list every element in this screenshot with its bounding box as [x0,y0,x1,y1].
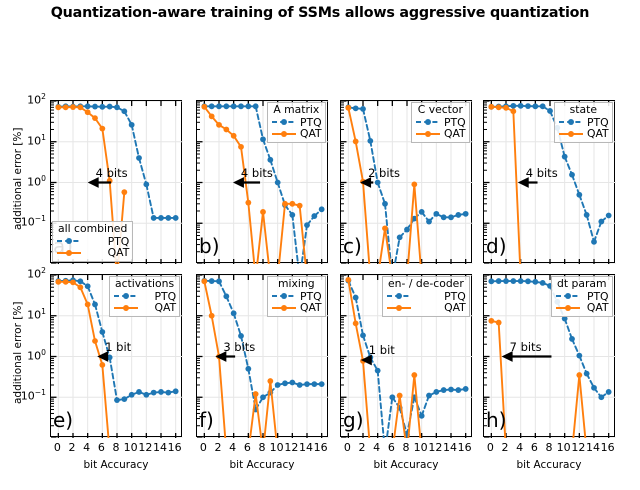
y-tick-label: 102 [2,266,46,281]
legend-swatch-ptq [386,291,412,301]
panel-label-h: h) [486,408,506,432]
legend-swatch-ptq [271,117,297,127]
y-tick-label: 100 [2,348,46,363]
x-axis-label: bit Accuracy [483,459,615,471]
legend-label: QAT [415,302,466,314]
legend-entry-qat: QAT [415,128,466,140]
y-tick-label: 10−1 [2,388,46,403]
legend-entry-qat: QAT [558,128,609,140]
x-tick-label: 16 [453,441,477,454]
legend-swatch-qat [113,303,139,313]
legend-c: C vectorPTQQAT [411,102,470,143]
panel-label-c: c) [343,234,362,258]
legend-entry-qat: QAT [386,302,466,314]
x-tick-label: 16 [163,441,187,454]
legend-title: mixing [271,278,322,291]
legend-title: dt param [555,278,609,291]
y-axis-label: additional error [%] [12,127,24,229]
legend-entry-qat: QAT [271,128,322,140]
legend-title: C vector [415,104,466,117]
legend-swatch-qat [56,248,82,258]
legend-b: A matrixPTQQAT [267,102,326,143]
annotation-c: 2 bits [368,166,400,180]
panel-label-f: f) [199,408,214,432]
x-tick-label: 16 [309,441,333,454]
legend-g: en- / de-coderPTQQAT [382,276,470,317]
legend-swatch-ptq [113,291,139,301]
legend-title: en- / de-coder [386,278,466,291]
x-tick-label: 16 [596,441,620,454]
legend-title: all combined [56,223,129,236]
legend-swatch-ptq [555,291,581,301]
legend-label: QAT [300,128,322,140]
legend-swatch-ptq [415,117,441,127]
panel-label-d: d) [486,234,507,258]
legend-h: dt paramPTQQAT [551,276,613,317]
y-tick-label: 100 [2,174,46,189]
annotation-a: 4 bits [96,166,128,180]
legend-swatch-ptq [56,236,82,246]
legend-a: all combinedPTQQAT [52,221,133,262]
legend-d: statePTQQAT [554,102,613,143]
legend-swatch-ptq [558,117,584,127]
x-axis-label: bit Accuracy [50,459,182,471]
legend-swatch-qat [386,303,412,313]
legend-title: A matrix [271,104,322,117]
legend-label: QAT [584,302,609,314]
legend-entry-qat: QAT [56,247,129,259]
x-axis-label: bit Accuracy [196,459,328,471]
legend-swatch-qat [271,303,297,313]
legend-entry-qat: QAT [271,302,322,314]
panel-label-g: g) [343,408,364,432]
legend-swatch-qat [271,129,297,139]
panel-label-e: e) [53,408,73,432]
legend-swatch-qat [415,129,441,139]
x-axis-label: bit Accuracy [340,459,472,471]
legend-label: QAT [587,128,609,140]
legend-label: QAT [300,302,322,314]
annotation-h: 7 bits [510,340,542,354]
y-axis-label: additional error [%] [12,301,24,403]
figure-title: Quantization-aware training of SSMs allo… [0,5,640,21]
legend-title: activations [113,278,176,291]
legend-swatch-qat [558,129,584,139]
legend-entry-qat: QAT [555,302,609,314]
annotation-g: 1 bit [369,343,395,357]
annotation-e: 1 bit [105,340,131,354]
annotation-f: 3 bits [223,340,255,354]
figure: Quantization-aware training of SSMs allo… [0,0,640,490]
legend-title: state [558,104,609,117]
legend-f: mixingPTQQAT [267,276,326,317]
y-tick-label: 102 [2,92,46,107]
legend-e: activationsPTQQAT [109,276,180,317]
annotation-b: 4 bits [241,166,273,180]
legend-swatch-qat [555,303,581,313]
y-tick-label: 10−1 [2,214,46,229]
annotation-d: 4 bits [526,166,558,180]
legend-entry-qat: QAT [113,302,176,314]
legend-label: QAT [85,247,129,259]
legend-swatch-ptq [271,291,297,301]
y-tick-label: 101 [2,307,46,322]
y-tick-label: 101 [2,133,46,148]
legend-label: QAT [444,128,466,140]
legend-label: QAT [142,302,176,314]
panel-label-b: b) [199,234,220,258]
